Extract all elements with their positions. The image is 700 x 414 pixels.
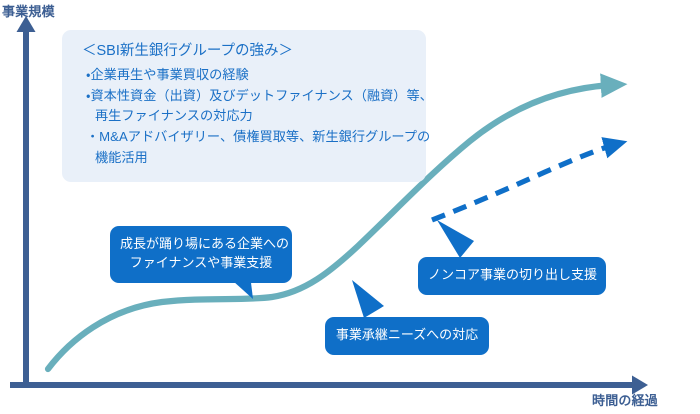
strengths-item-1: ・資本性資金（出資）及びデットファイナンス（融資）等、 再生ファイナンスの対応力 (86, 86, 412, 128)
y-axis (17, 16, 36, 385)
strengths-item-2-line2: 機能活用 (95, 148, 412, 169)
callout-business-succession[interactable]: 事業承継ニーズへの対応 (325, 317, 489, 355)
callout-succession-line1: 事業承継ニーズへの対応 (335, 326, 479, 345)
strengths-item-1-line1: ・資本性資金（出資）及びデットファイナンス（融資）等、 (86, 88, 433, 103)
strengths-info-box: ＜SBI新生銀行グループの強み＞ ・企業再生や事業買収の経験 ・資本性資金（出資… (62, 30, 426, 182)
y-axis-label: 事業規模 (2, 1, 55, 20)
callout-growth-line2: ファイナンスや事業支援 (120, 254, 282, 273)
strengths-item-0: ・企業再生や事業買収の経験 (86, 65, 412, 86)
callout-noncore-carveout[interactable]: ノンコア事業の切り出し支援 (418, 257, 606, 295)
callout-noncore-tail-icon (437, 220, 474, 258)
strengths-box-title: ＜SBI新生銀行グループの強み＞ (82, 41, 412, 63)
callout-noncore-line1: ノンコア事業の切り出し支援 (428, 266, 596, 285)
noncore-branch-curve (432, 145, 614, 220)
strengths-item-1-line2: 再生ファイナンスの対応力 (95, 106, 412, 127)
x-axis-label: 時間の経過 (592, 390, 658, 409)
strengths-item-0-line1: ・企業再生や事業買収の経験 (86, 67, 249, 82)
x-axis (10, 376, 648, 395)
callout-succession-tail-icon (352, 280, 384, 318)
strengths-item-2: ・M&Aアドバイザリー、債権買取等、新生銀行グループの 機能活用 (86, 127, 412, 169)
diagram-canvas: 事業規模 時間の経過 ＜SBI新生銀行グループの強み＞ ・企業再生や事業買収の経… (0, 0, 700, 414)
callout-growth-plateau-support[interactable]: 成長が踊り場にある企業への ファイナンスや事業支援 (110, 226, 292, 283)
callout-growth-line1: 成長が踊り場にある企業への (120, 235, 282, 254)
strengths-item-2-line1: ・M&Aアドバイザリー、債権買取等、新生銀行グループの (86, 129, 430, 144)
